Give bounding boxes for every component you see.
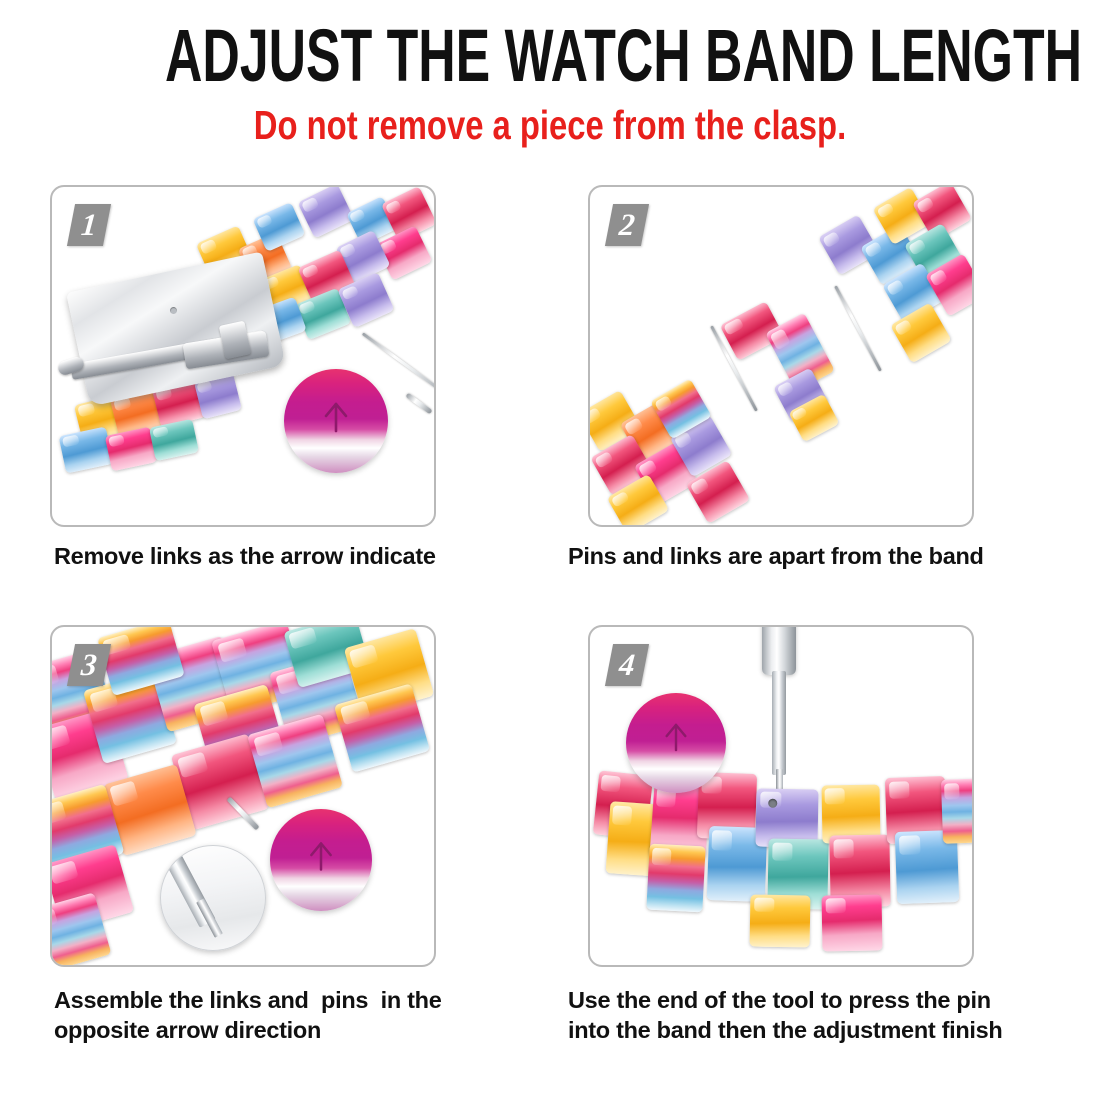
- link-gloss: [612, 806, 632, 826]
- link-gloss: [654, 395, 673, 413]
- page-subtitle-warning: Do not remove a piece from the clasp.: [110, 102, 990, 148]
- link-gloss: [109, 781, 139, 807]
- header: ADJUST THE WATCH BAND LENGTH Do not remo…: [0, 0, 1100, 148]
- arrow-up-icon: [292, 827, 350, 885]
- link-gloss: [108, 434, 125, 446]
- link-gloss: [899, 836, 921, 855]
- instruction-panel-1: 1 Remove links as the arrow indicate: [50, 185, 540, 580]
- figure-frame-2: 2: [588, 185, 974, 527]
- link-gloss: [944, 783, 960, 800]
- band-link: [297, 187, 354, 239]
- inset-arrow-marking-closeup: [626, 693, 726, 793]
- link-gloss: [341, 285, 359, 301]
- link-gloss: [825, 898, 846, 913]
- arrow-up-icon: [306, 387, 366, 447]
- link-gloss: [791, 407, 807, 421]
- link-gloss: [199, 239, 218, 255]
- instruction-panel-3: 3 Assemble the links and pins in the opp…: [50, 625, 540, 1020]
- link-gloss: [52, 725, 71, 751]
- link-gloss: [199, 701, 229, 727]
- instruction-panel-4: 4 Use the end of the tool to press the p…: [560, 625, 1050, 1020]
- link-gloss: [754, 898, 775, 912]
- link-gloss: [384, 199, 402, 215]
- link-gloss: [62, 435, 80, 448]
- link-gloss: [301, 197, 319, 213]
- instruction-panel-2: 2 Pins and links are apart from the band: [560, 185, 1050, 580]
- link-gloss: [253, 731, 284, 757]
- band-link: [646, 844, 705, 913]
- band-link: [822, 894, 883, 951]
- link-gloss: [833, 839, 854, 858]
- link-gloss: [52, 665, 59, 690]
- band-link: [750, 894, 811, 947]
- link-gloss: [152, 426, 168, 438]
- inset-pin-tip-closeup: [160, 845, 266, 951]
- panel-caption-4: Use the end of the tool to press the pin…: [560, 985, 1050, 1045]
- panel-caption-3: Assemble the links and pins in the oppos…: [50, 985, 540, 1045]
- watch-clasp: [66, 251, 286, 406]
- link-gloss: [876, 202, 894, 219]
- inset-arrow-marking-closeup: [270, 809, 372, 911]
- link-gloss: [340, 701, 371, 726]
- link-gloss: [894, 319, 913, 337]
- link-gloss: [52, 908, 58, 931]
- link-gloss: [908, 238, 927, 255]
- link-gloss: [776, 381, 793, 397]
- link-gloss: [916, 196, 935, 213]
- inset-arrow-marking-closeup: [284, 369, 388, 473]
- step-number-1: 1: [69, 204, 109, 246]
- band-link: [149, 419, 199, 461]
- step-number-badge-2: 2: [605, 204, 649, 246]
- band-link: [59, 426, 114, 473]
- panel-caption-2: Pins and links are apart from the band: [560, 541, 1050, 571]
- step-number-3: 3: [69, 644, 109, 686]
- link-gloss: [349, 644, 378, 668]
- link-gloss: [77, 403, 95, 417]
- step-number-badge-4: 4: [605, 644, 649, 686]
- link-gloss: [52, 801, 67, 826]
- link-gloss: [724, 318, 744, 335]
- link-gloss: [822, 231, 841, 249]
- step-number-4: 4: [607, 644, 647, 686]
- figure-frame-4: 4: [588, 625, 974, 967]
- page-title: ADJUST THE WATCH BAND LENGTH: [165, 18, 935, 94]
- link-gloss: [690, 477, 710, 496]
- step-number-badge-3: 3: [67, 644, 111, 686]
- pin-hole: [768, 799, 777, 808]
- link-gloss: [889, 781, 910, 799]
- instruction-panel-grid: 1 Remove links as the arrow indicate: [0, 185, 1100, 1020]
- figure-frame-3: 3: [50, 625, 436, 967]
- figure-frame-1: 1: [50, 185, 436, 527]
- link-gloss: [289, 627, 317, 648]
- tool-shaft: [772, 671, 786, 775]
- link-gloss: [769, 328, 790, 350]
- link-gloss: [864, 241, 883, 259]
- photo-watch-band-with-clasp: [52, 187, 434, 525]
- link-gloss: [825, 789, 845, 804]
- link-gloss: [712, 831, 732, 851]
- link-gloss: [594, 451, 614, 469]
- link-gloss: [610, 490, 630, 508]
- link-gloss: [772, 843, 793, 862]
- arrow-up-icon: [648, 709, 704, 765]
- link-gloss: [624, 417, 644, 436]
- link-gloss: [177, 751, 209, 778]
- link-gloss: [886, 279, 905, 297]
- pin-tip: [405, 393, 432, 415]
- panel-caption-1: Remove links as the arrow indicate: [50, 541, 540, 571]
- link-gloss: [590, 407, 602, 425]
- loose-pin: [834, 285, 882, 371]
- link-gloss: [256, 214, 273, 228]
- photo-links-closeup: [52, 627, 434, 965]
- link-gloss: [301, 263, 320, 279]
- tool-handle: [762, 627, 796, 675]
- band-link: [941, 778, 972, 843]
- link-gloss: [217, 637, 248, 663]
- link-gloss: [652, 848, 672, 866]
- link-gloss: [349, 209, 365, 223]
- photo-tool-pressing-pin: [590, 627, 972, 965]
- photo-separated-links-and-pins: [590, 187, 972, 525]
- step-number-badge-1: 1: [67, 204, 111, 246]
- link-gloss: [52, 860, 78, 884]
- step-number-2: 2: [607, 204, 647, 246]
- link-gloss: [929, 269, 948, 287]
- link-gloss: [601, 774, 621, 792]
